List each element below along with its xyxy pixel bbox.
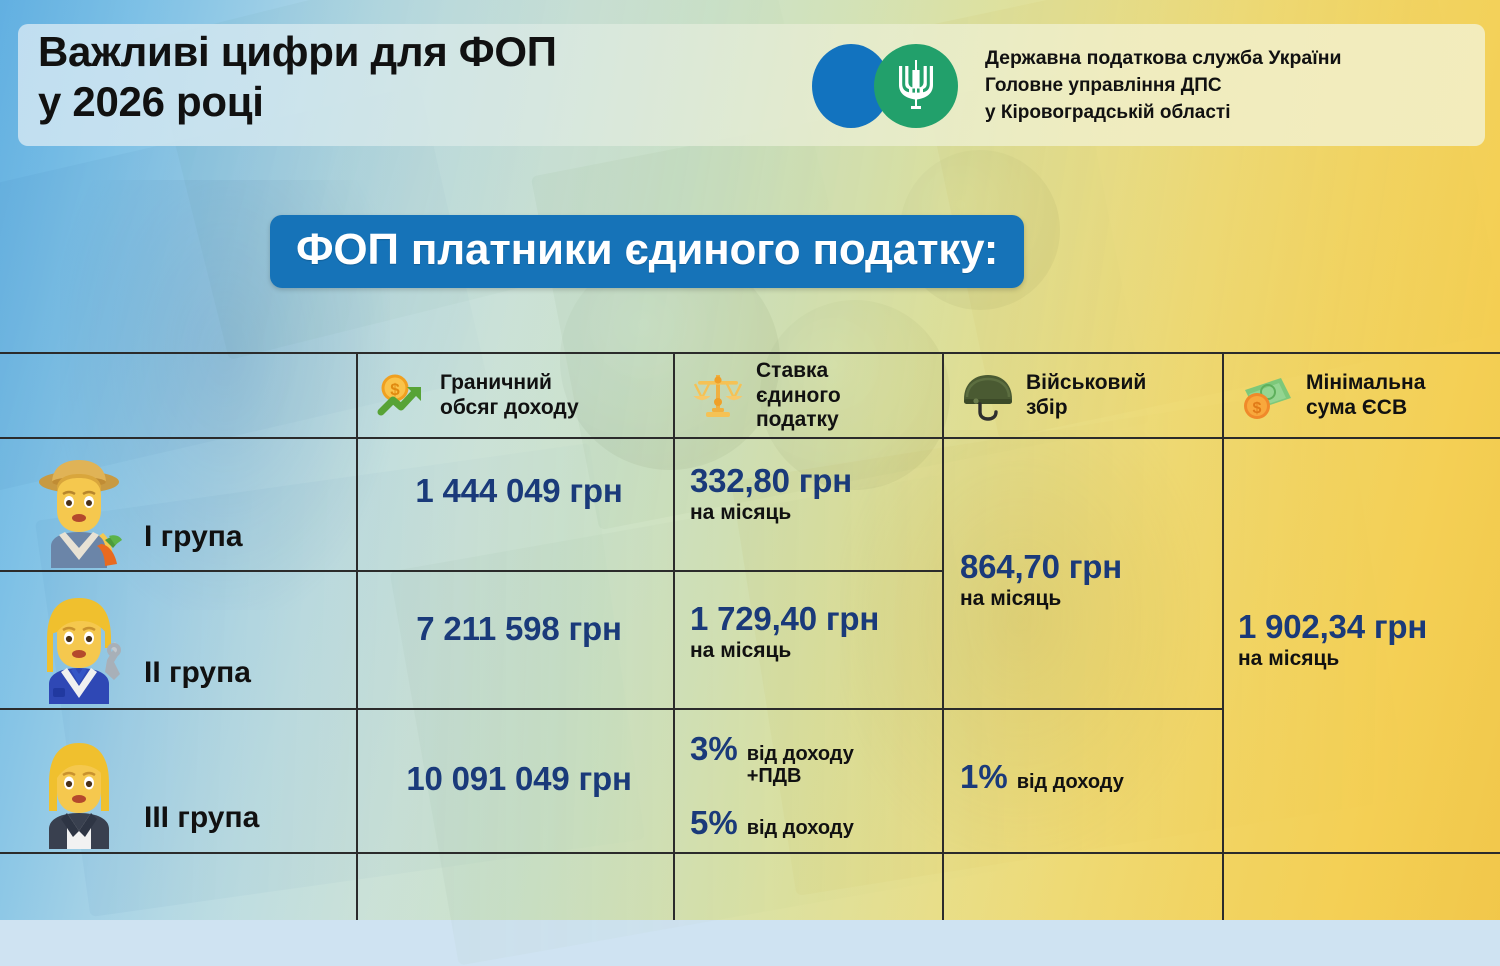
military-pct-3-note: від доходу bbox=[1017, 771, 1124, 793]
column-header-rate-label: Ставка єдиного податку bbox=[756, 359, 841, 433]
limit-value-row-1: 1 444 049 грн bbox=[374, 472, 664, 510]
woman-mechanic-icon bbox=[20, 586, 138, 704]
org-line-3: у Кіровоградській області bbox=[985, 99, 1342, 126]
esv-merged-cell: 1 902,34 грн на місяць bbox=[1238, 608, 1496, 671]
organization-text: Державна податкова служба України Головн… bbox=[985, 44, 1342, 127]
grid-line-h bbox=[0, 852, 1500, 854]
rate-value-row-2: 1 729,40 грн на місяць bbox=[690, 600, 936, 663]
esv-merged-note: на місяць bbox=[1238, 647, 1496, 671]
table-row-group-2: ІІ група bbox=[20, 574, 350, 704]
org-line-2: Головне управління ДПС bbox=[985, 72, 1342, 99]
svg-text:$: $ bbox=[390, 380, 400, 399]
column-header-limit-label: Граничний обсяг доходу bbox=[440, 371, 579, 420]
rate-note-1-text: на місяць bbox=[690, 501, 936, 525]
column-header-military-label: Військовий збір bbox=[1026, 371, 1146, 420]
chart-increasing-with-dollar-icon: $ bbox=[374, 368, 430, 424]
limit-value-row-2: 7 211 598 грн bbox=[374, 610, 664, 648]
rate-value-1-text: 332,80 грн bbox=[690, 462, 936, 500]
column-header-limit: $ Граничний обсяг доходу bbox=[374, 364, 666, 428]
rate-note-2-text: на місяць bbox=[690, 639, 936, 663]
svg-text:$: $ bbox=[1253, 400, 1262, 417]
column-header-esv: $ Мінімальна сума ЄСВ bbox=[1240, 364, 1490, 428]
org-line-1: Державна податкова служба України bbox=[985, 44, 1342, 72]
limit-value-3-text: 10 091 049 грн bbox=[370, 760, 668, 798]
grid-line-h bbox=[0, 352, 1500, 354]
rate-value-row-1: 332,80 грн на місяць bbox=[690, 462, 936, 525]
grid-line-v bbox=[673, 352, 675, 920]
woman-office-worker-icon bbox=[20, 731, 138, 849]
rates-table: $ Граничний обсяг доходу Ставка єдиного … bbox=[0, 352, 1500, 852]
trident-icon bbox=[896, 58, 936, 114]
military-pct-3-text: 1% bbox=[960, 758, 1008, 796]
limit-value-1-text: 1 444 049 грн bbox=[374, 472, 664, 510]
page-title: Важливі цифри для ФОП у 2026 році bbox=[38, 27, 557, 128]
rate-pct-2-note: від доходу bbox=[747, 817, 854, 839]
limit-value-2-text: 7 211 598 грн bbox=[374, 610, 664, 648]
balance-scale-icon bbox=[690, 368, 746, 424]
rate-pct-2-text: 5% bbox=[690, 804, 738, 842]
military-helmet-icon bbox=[960, 368, 1016, 424]
esv-merged-value: 1 902,34 грн bbox=[1238, 608, 1496, 646]
table-row-group-1: І група bbox=[20, 444, 350, 568]
woman-farmer-icon bbox=[20, 450, 138, 568]
group-label-1: І група bbox=[144, 520, 243, 568]
grid-line-v bbox=[942, 352, 944, 920]
column-header-esv-label: Мінімальна сума ЄСВ bbox=[1306, 371, 1425, 420]
grid-line-h bbox=[0, 437, 1500, 439]
rate-pct-1-note: від доходу +ПДВ bbox=[747, 743, 854, 788]
section-banner-label: ФОП платники єдиного податку: bbox=[296, 225, 998, 274]
grid-line-h bbox=[0, 570, 942, 572]
column-header-rate: Ставка єдиного податку bbox=[690, 360, 938, 432]
section-banner: ФОП платники єдиного податку: bbox=[270, 215, 1024, 288]
grid-line-v bbox=[356, 352, 358, 920]
military-merged-value: 864,70 грн bbox=[960, 548, 1215, 586]
grid-line-h bbox=[0, 708, 1222, 710]
group-label-3: ІІІ група bbox=[144, 801, 259, 849]
military-row-3-cell: 1% від доходу bbox=[960, 758, 1216, 796]
rate-value-2-text: 1 729,40 грн bbox=[690, 600, 936, 638]
logo-green-circle bbox=[874, 44, 958, 128]
rate-pct-line-1: 3% від доходу +ПДВ bbox=[690, 730, 938, 788]
dps-logo bbox=[812, 40, 962, 132]
money-with-coin-icon: $ bbox=[1240, 368, 1296, 424]
table-row-group-3: ІІІ група bbox=[20, 714, 350, 849]
rate-value-row-3: 3% від доходу +ПДВ 5% від доходу bbox=[690, 730, 938, 842]
military-merged-note: на місяць bbox=[960, 587, 1215, 611]
grid-line-v bbox=[1222, 352, 1224, 920]
rate-pct-line-2: 5% від доходу bbox=[690, 804, 938, 842]
column-header-military: Військовий збір bbox=[960, 364, 1212, 428]
group-label-2: ІІ група bbox=[144, 656, 251, 704]
military-merged-cell: 864,70 грн на місяць bbox=[960, 548, 1215, 611]
rate-pct-1-text: 3% bbox=[690, 730, 738, 768]
limit-value-row-3: 10 091 049 грн bbox=[370, 760, 668, 798]
